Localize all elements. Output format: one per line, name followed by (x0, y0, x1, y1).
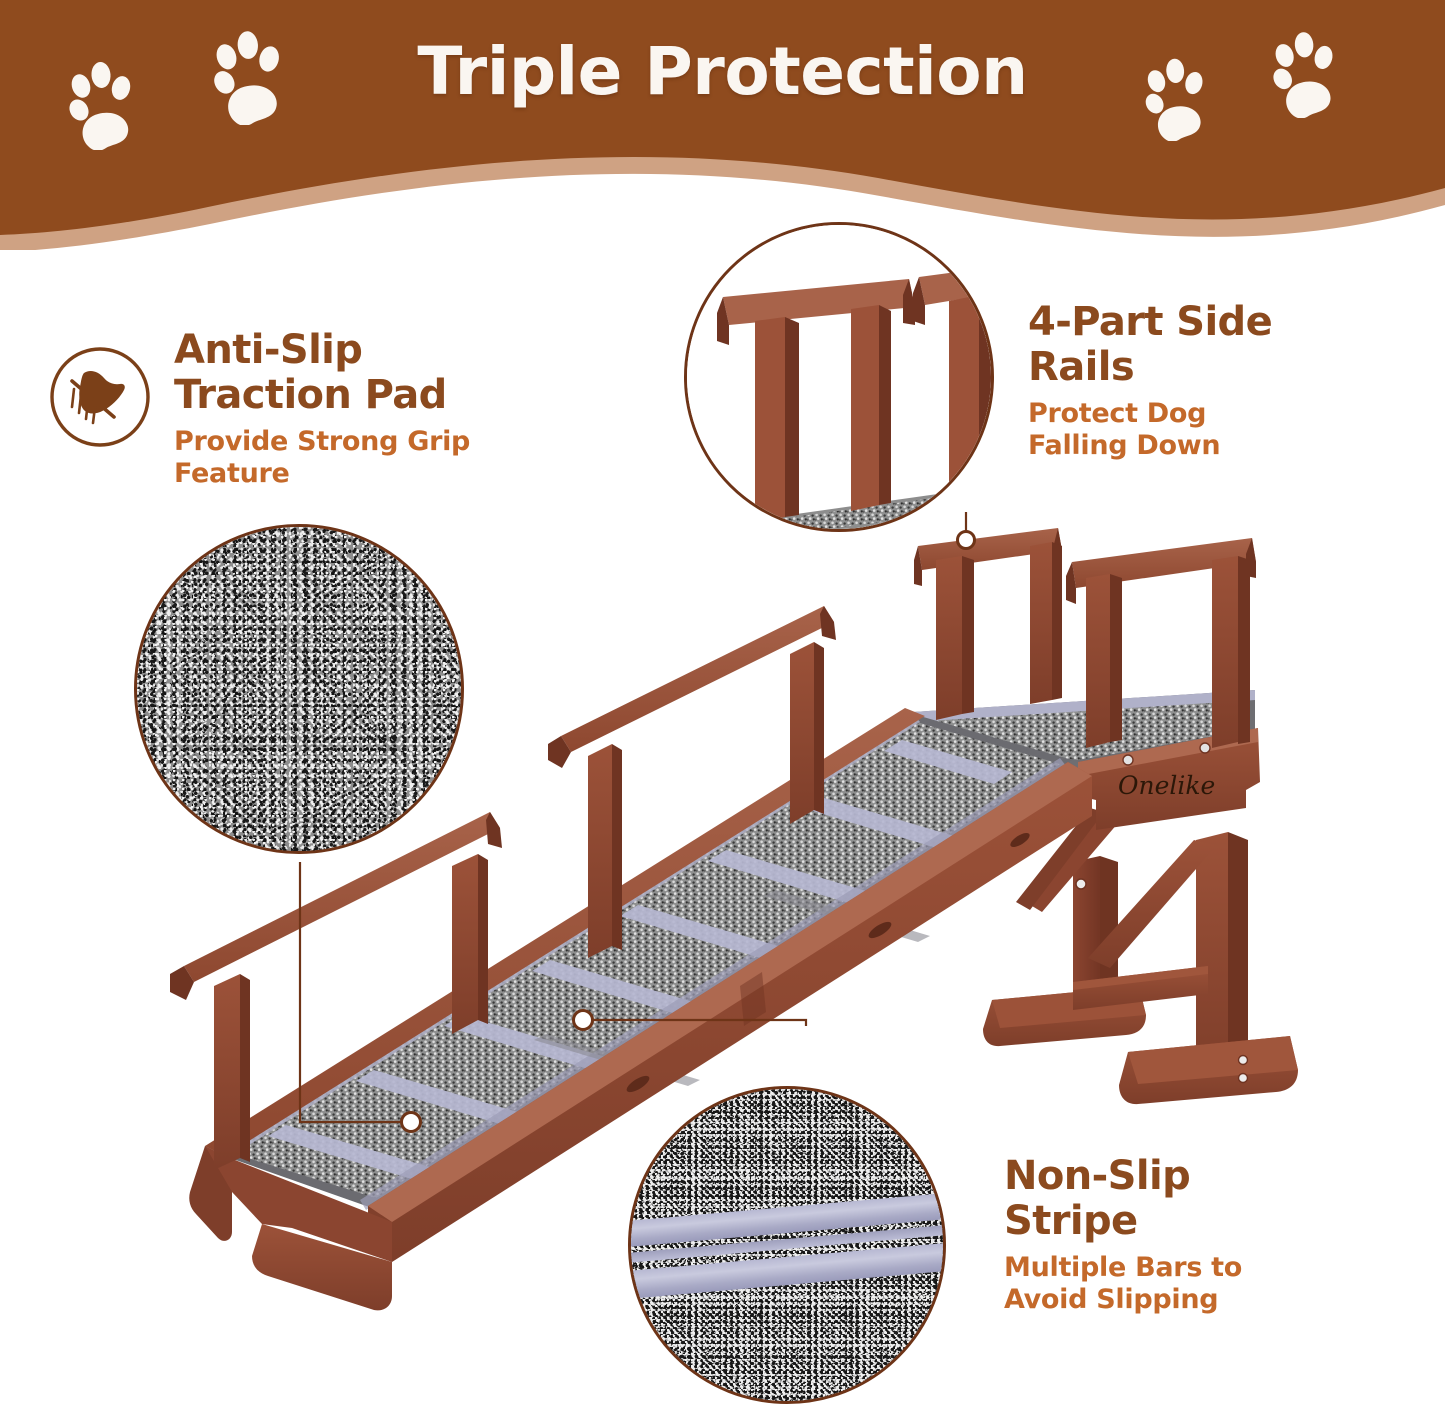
feature-title: Non-Slip Stripe (1004, 1154, 1404, 1244)
feature-block-four-part-side-rails: 4-Part Side Rails Protect Dog Falling Do… (1028, 300, 1408, 462)
shoe-sole-anti-slip-icon (48, 345, 152, 449)
feature-subtitle: Multiple Bars to Avoid Slipping (1004, 1252, 1404, 1317)
feature-block-non-slip-stripe: Non-Slip Stripe Multiple Bars to Avoid S… (1004, 1154, 1404, 1316)
detail-circle-traction-pad (134, 524, 464, 854)
brand-label: Onelike (1118, 771, 1215, 800)
callout-dot-traction-pad[interactable] (400, 1111, 422, 1133)
carpet-texture (137, 527, 461, 851)
detail-circle-side-rails (684, 222, 994, 532)
feature-title: 4-Part Side Rails (1028, 300, 1408, 390)
callout-dot-non-slip-stripe[interactable] (572, 1009, 594, 1031)
feature-subtitle: Protect Dog Falling Down (1028, 398, 1408, 463)
feature-block-anti-slip-traction-pad: Anti-Slip Traction Pad Provide Strong Gr… (174, 328, 594, 490)
feature-subtitle: Provide Strong Grip Feature (174, 426, 594, 491)
callout-dot-side-rails[interactable] (956, 530, 976, 550)
infographic-page: Triple Protection (0, 0, 1445, 1416)
side-rails-closeup-art (687, 225, 994, 532)
feature-title: Anti-Slip Traction Pad (174, 328, 594, 418)
detail-circle-non-slip-stripe (628, 1086, 946, 1404)
